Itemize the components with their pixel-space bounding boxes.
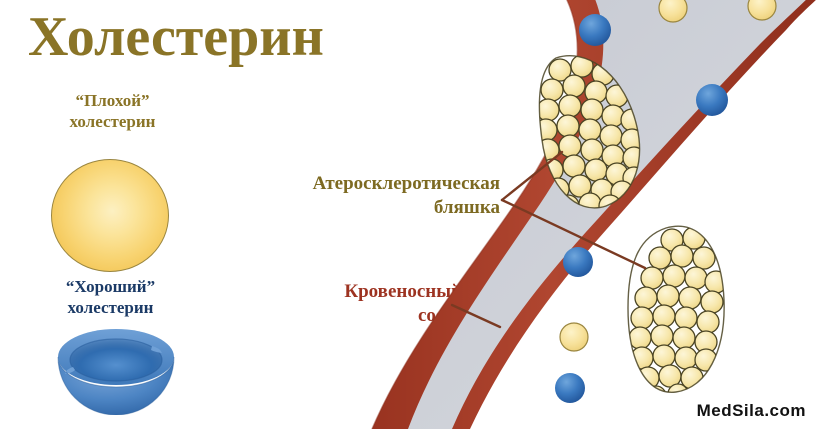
lower-plaque bbox=[628, 226, 727, 406]
infographic-canvas: Холестерин “Плохой” холестерин “Хороший”… bbox=[0, 0, 820, 429]
good-cholesterol-label-line1: “Хороший” bbox=[18, 276, 203, 297]
bad-cholesterol-label: “Плохой” холестерин bbox=[20, 90, 205, 133]
watermark: MedSila.com bbox=[697, 401, 806, 421]
ldl-sphere-icon bbox=[51, 159, 169, 272]
good-cholesterol-label-line2: холестерин bbox=[18, 297, 203, 318]
artery-illustration bbox=[360, 0, 820, 429]
hdl-particle bbox=[579, 14, 611, 46]
hdl-particle bbox=[555, 373, 585, 403]
hdl-particle bbox=[696, 84, 728, 116]
ldl-particle bbox=[560, 323, 588, 351]
bad-cholesterol-label-line2: холестерин bbox=[20, 111, 205, 132]
lower-plaque-cells bbox=[629, 227, 727, 406]
good-cholesterol-label: “Хороший” холестерин bbox=[18, 276, 203, 319]
hdl-bowl-icon bbox=[56, 327, 176, 415]
hdl-particle bbox=[563, 247, 593, 277]
ldl-particle bbox=[659, 0, 687, 22]
bad-cholesterol-label-line1: “Плохой” bbox=[20, 90, 205, 111]
page-title: Холестерин bbox=[28, 8, 324, 67]
